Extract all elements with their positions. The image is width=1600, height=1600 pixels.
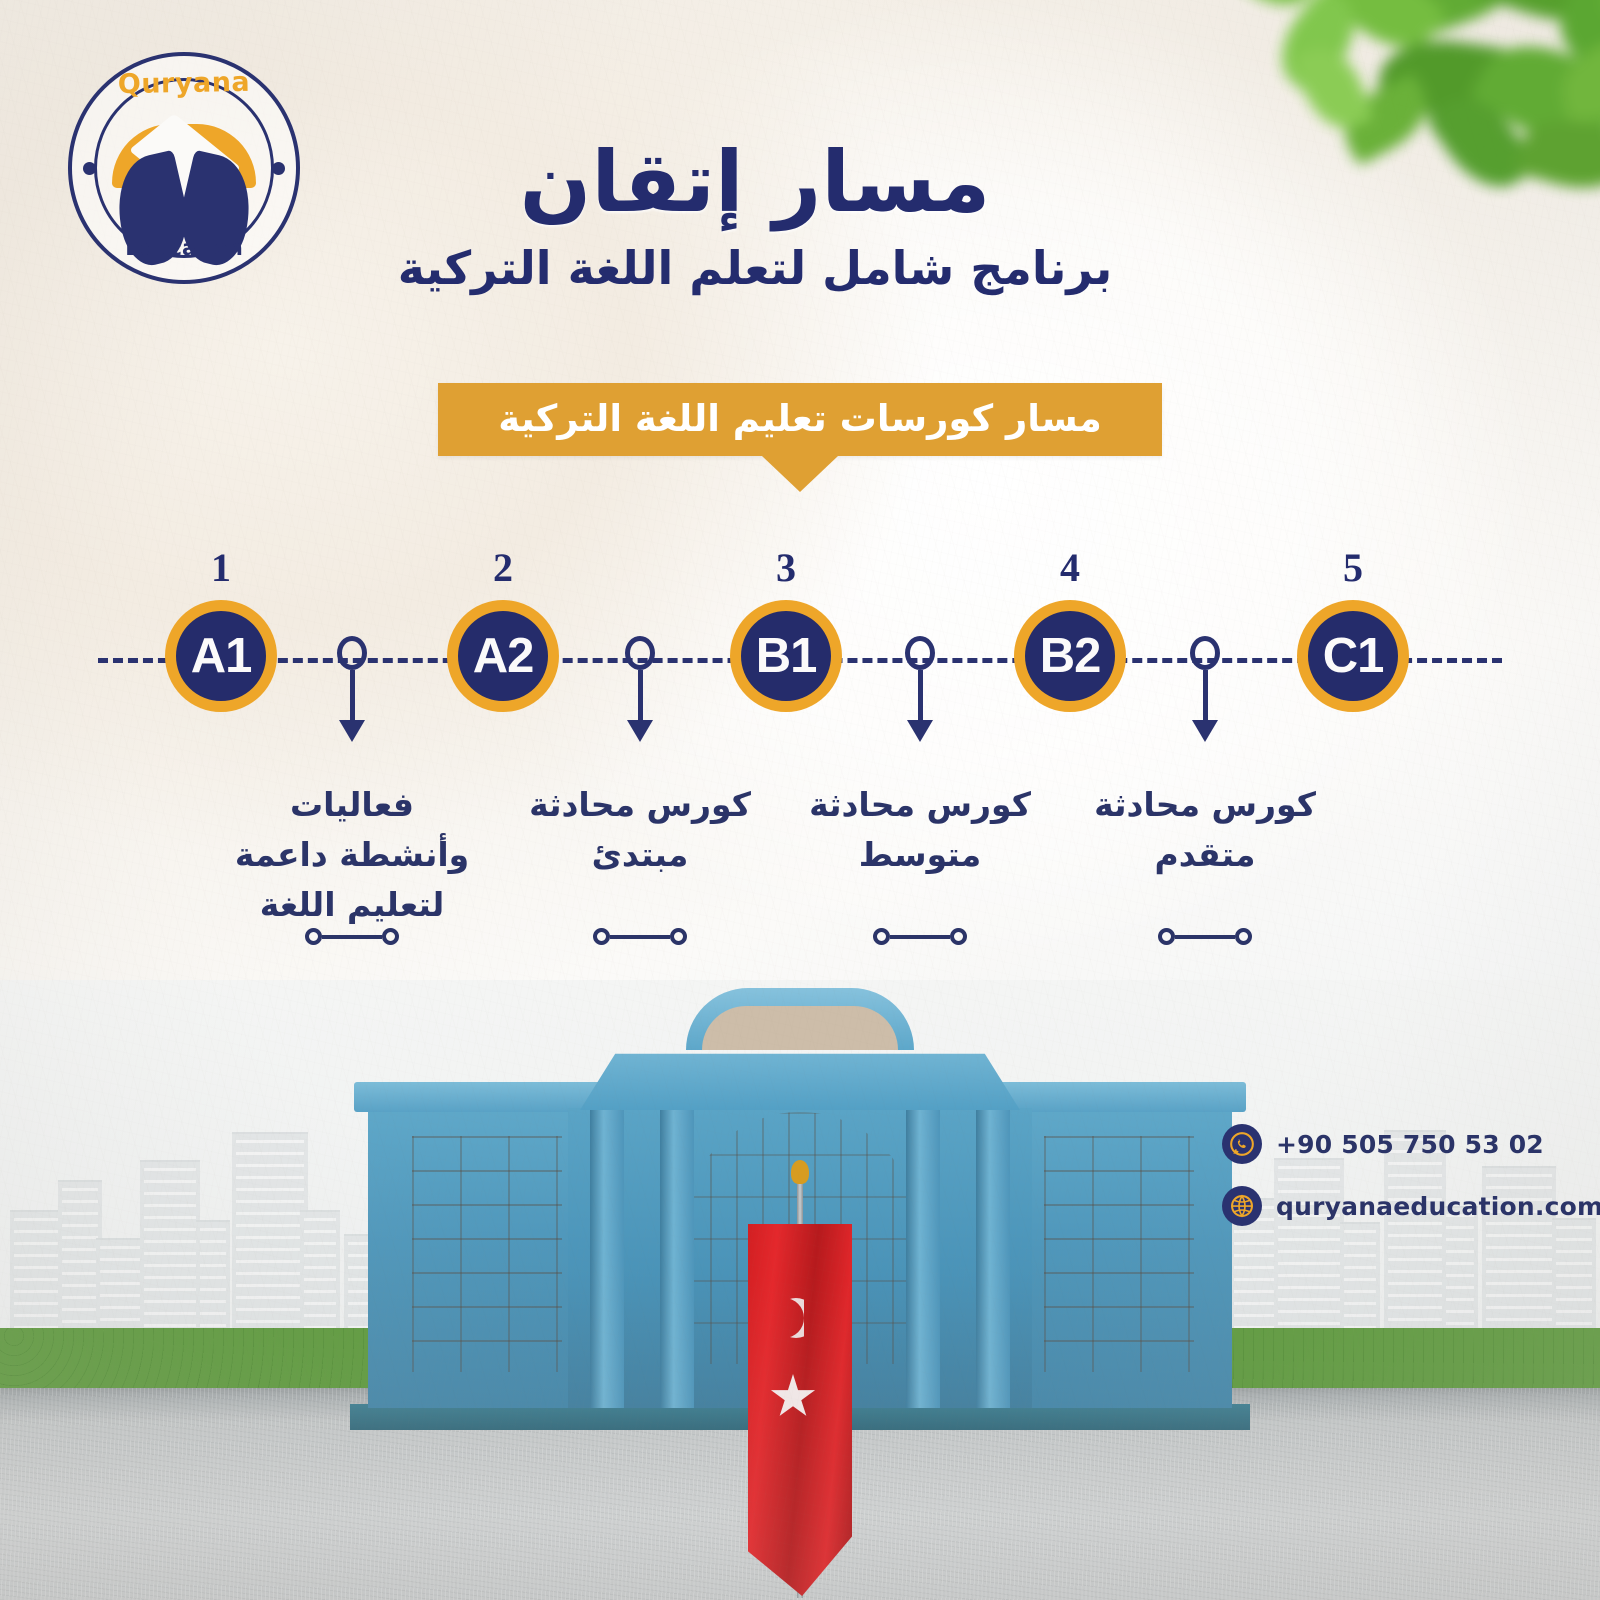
divider-dot-left (1235, 928, 1252, 945)
node-level-label: B1 (756, 632, 817, 681)
whatsapp-icon (1222, 1124, 1262, 1164)
background-scene (0, 980, 1600, 1600)
caption-divider-1 (292, 928, 412, 945)
connector-ring (1190, 636, 1220, 670)
column-1 (590, 1102, 624, 1408)
flag-crescent (764, 1298, 804, 1338)
caption-divider-2 (580, 928, 700, 945)
course-timeline: 1A12A23B14B25C1 فعاليات وأنشطة داعمة لتع… (0, 548, 1600, 948)
caption-divider-4 (1145, 928, 1265, 945)
timeline-caption-1: فعاليات وأنشطة داعمة لتعليم اللغة (222, 780, 482, 930)
timeline-connector-4 (1175, 636, 1235, 742)
caption-divider-3 (860, 928, 980, 945)
divider-dot-left (670, 928, 687, 945)
connector-arrow-icon (339, 720, 365, 742)
contact-phone-row[interactable]: +90 505 750 53 02 (1222, 1124, 1552, 1164)
logo-subtext: Education (68, 236, 300, 260)
contact-website-text: quryanaeducation.com (1276, 1192, 1600, 1221)
node-level-badge: C1 (1297, 600, 1409, 712)
node-step-number: 5 (1243, 548, 1463, 588)
section-ribbon: مسار كورسات تعليم اللغة التركية (438, 383, 1162, 456)
node-level-label: C1 (1323, 632, 1384, 681)
column-3 (906, 1102, 940, 1408)
divider-bar (322, 935, 382, 939)
contact-phone-text: +90 505 750 53 02 (1276, 1130, 1544, 1159)
divider-bar (1175, 935, 1235, 939)
node-step-number: 3 (676, 548, 896, 588)
building-wing-right (1000, 1108, 1232, 1408)
title-block: مسار إتقان برنامج شامل لتعلم اللغة الترك… (330, 138, 1180, 298)
timeline-node-b1[interactable]: 3B1 (676, 548, 896, 712)
divider-dot-right (873, 928, 890, 945)
contact-block: +90 505 750 53 02 quryanaeducation.com (1222, 1124, 1552, 1248)
wing-facade-left (412, 1136, 562, 1372)
globe-icon (1222, 1186, 1262, 1226)
timeline-connector-1 (322, 636, 382, 742)
column-4 (976, 1102, 1010, 1408)
connector-arrow-icon (907, 720, 933, 742)
node-level-label: A2 (473, 632, 534, 681)
wing-facade-right (1044, 1136, 1194, 1372)
contact-website-row[interactable]: quryanaeducation.com (1222, 1186, 1552, 1226)
logo-dot-right (272, 162, 285, 175)
divider-dot-right (1158, 928, 1175, 945)
timeline-caption-4: كورس محادثة متقدم (1075, 780, 1335, 880)
node-level-badge: B1 (730, 600, 842, 712)
page-title: مسار إتقان (330, 138, 1180, 226)
divider-dot-right (593, 928, 610, 945)
logo-dot-left (83, 162, 96, 175)
node-level-label: B2 (1040, 632, 1101, 681)
node-step-number: 2 (393, 548, 613, 588)
building-wing-left (368, 1108, 600, 1408)
leaf-shape (1292, 38, 1374, 138)
divider-dot-left (382, 928, 399, 945)
node-step-number: 1 (111, 548, 331, 588)
connector-ring (625, 636, 655, 670)
connector-arrow-icon (1192, 720, 1218, 742)
connector-arrow-icon (627, 720, 653, 742)
skyline-building (140, 1160, 200, 1332)
timeline-node-a1[interactable]: 1A1 (111, 548, 331, 712)
flag-finial (791, 1160, 809, 1184)
timeline-connector-2 (610, 636, 670, 742)
divider-dot-left (950, 928, 967, 945)
node-level-label: A1 (191, 632, 252, 681)
skyline-building (300, 1210, 340, 1332)
turkish-flag (748, 1224, 852, 1596)
node-level-badge: A2 (447, 600, 559, 712)
divider-dot-right (305, 928, 322, 945)
flag-pole (797, 1178, 803, 1598)
flag-star (770, 1374, 816, 1420)
divider-bar (610, 935, 670, 939)
connector-stem (350, 670, 355, 720)
connector-stem (1203, 670, 1208, 720)
column-2 (660, 1102, 694, 1408)
timeline-caption-2: كورس محادثة مبتدئ (510, 780, 770, 880)
building-center (568, 1036, 1032, 1408)
timeline-caption-3: كورس محادثة متوسط (790, 780, 1050, 880)
divider-bar (890, 935, 950, 939)
dome-pediment (686, 988, 914, 1050)
institute-building (368, 1008, 1232, 1408)
skyline-building (1552, 1218, 1596, 1332)
ribbon-wrapper: مسار كورسات تعليم اللغة التركية (0, 383, 1600, 456)
node-level-badge: B2 (1014, 600, 1126, 712)
logo-wordmark: Quryana (68, 66, 301, 101)
skyline-building (232, 1132, 308, 1332)
connector-ring (905, 636, 935, 670)
poster-canvas: Quryana Education مسار إتقان برنامج شامل… (0, 0, 1600, 1600)
connector-ring (337, 636, 367, 670)
node-step-number: 4 (960, 548, 1180, 588)
timeline-node-a2[interactable]: 2A2 (393, 548, 613, 712)
connector-stem (918, 670, 923, 720)
timeline-node-b2[interactable]: 4B2 (960, 548, 1180, 712)
brand-logo: Quryana Education (68, 52, 300, 284)
timeline-node-c1[interactable]: 5C1 (1243, 548, 1463, 712)
connector-stem (638, 670, 643, 720)
page-subtitle: برنامج شامل لتعلم اللغة التركية (330, 240, 1180, 298)
skyline-building (196, 1220, 230, 1332)
timeline-connector-3 (890, 636, 950, 742)
node-level-badge: A1 (165, 600, 277, 712)
